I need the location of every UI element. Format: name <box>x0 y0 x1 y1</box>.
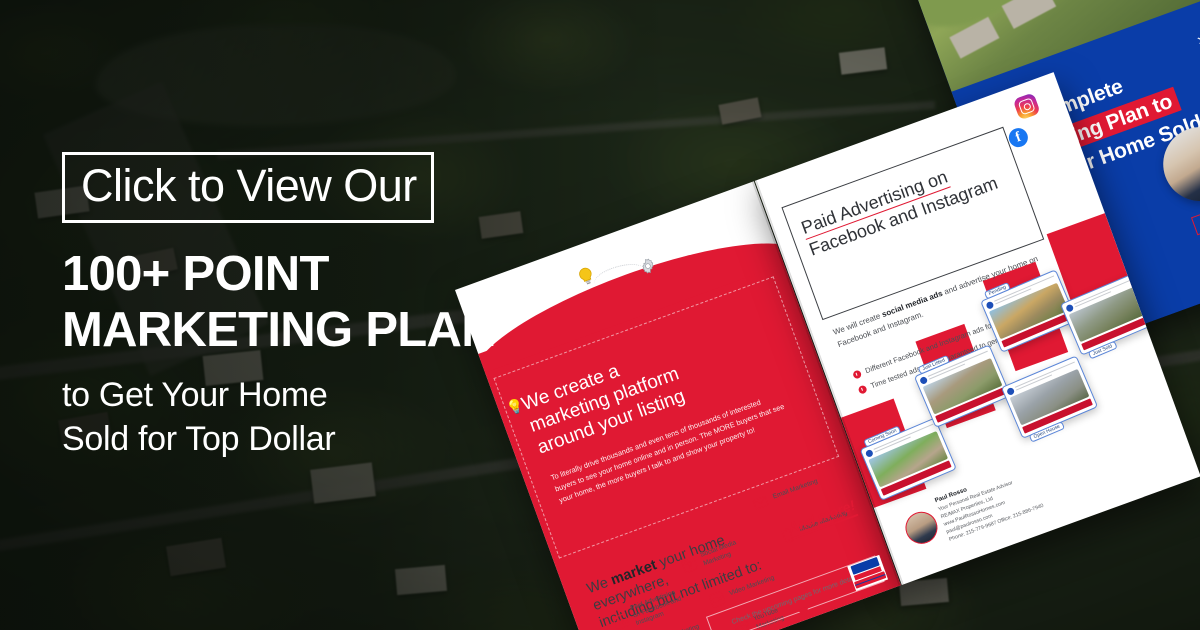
house-roof <box>1002 0 1057 29</box>
agent-headshot <box>901 507 942 548</box>
check-bullet-icon <box>852 369 862 379</box>
headline-line-2: MARKETING PLAN <box>62 305 532 357</box>
headline-block: Click to View Our 100+ POINT MARKETING P… <box>62 152 532 461</box>
banner-stage: Click to View Our 100+ POINT MARKETING P… <box>0 0 1200 630</box>
cta-label: Click to View Our <box>81 163 417 208</box>
instagram-square <box>1018 97 1036 115</box>
subhead-line-1: to Get Your Home <box>62 375 532 417</box>
check-bullet-icon <box>858 384 868 394</box>
agent-details: Paul Rosso Your Personal Real Estate Adv… <box>934 463 1045 544</box>
headline-line-1: 100+ POINT <box>62 249 532 301</box>
subhead-line-2: Sold for Top Dollar <box>62 419 532 461</box>
instagram-icon <box>1013 92 1041 120</box>
instagram-lens <box>1022 102 1031 111</box>
cta-button[interactable]: Click to View Our <box>62 152 434 223</box>
megaphone-icon <box>610 611 632 630</box>
